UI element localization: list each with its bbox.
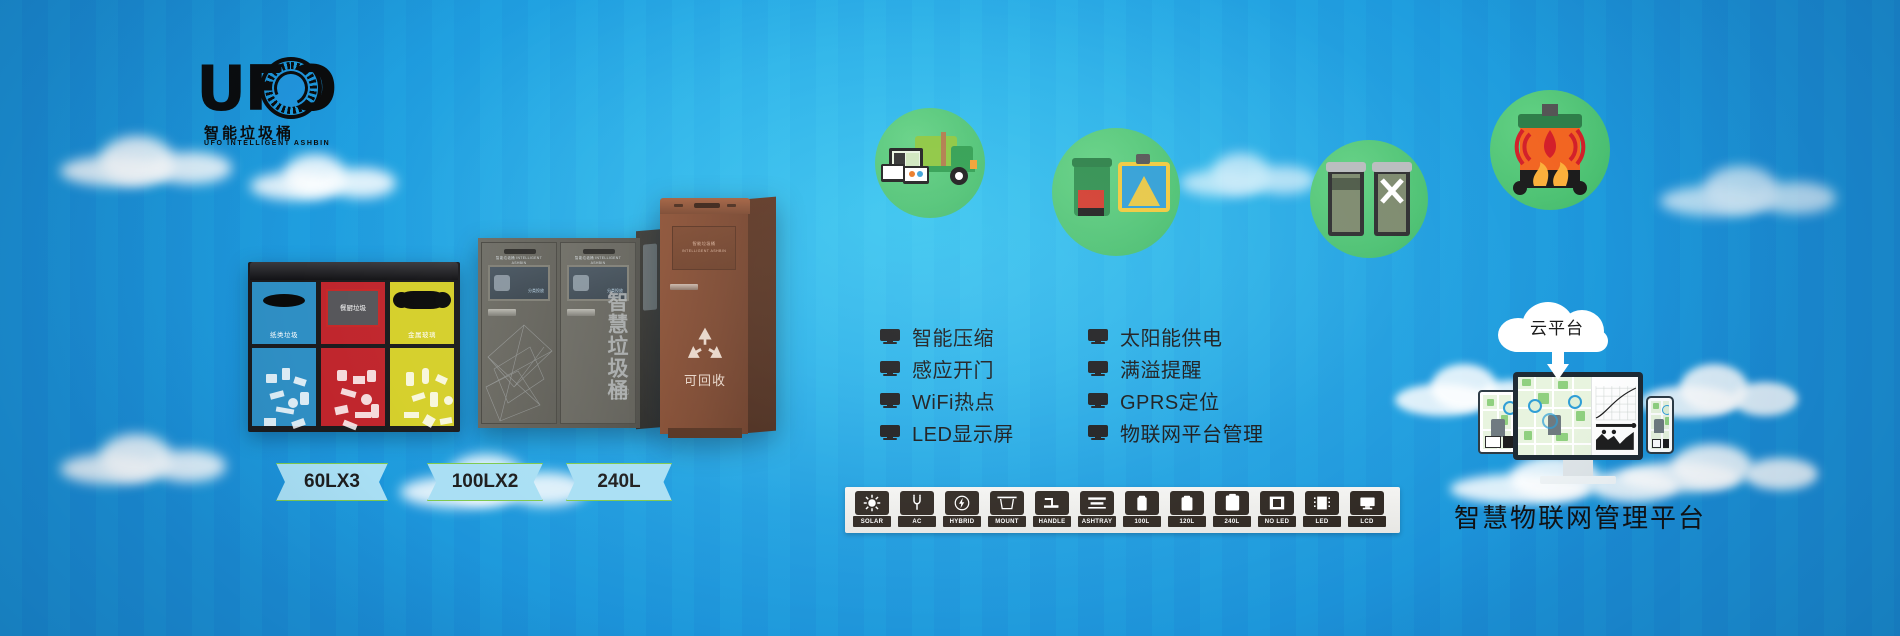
- burning-bin-alarm-icon: [1490, 90, 1610, 210]
- cloud-decoration: [250, 150, 400, 205]
- monitor-icon: [1088, 425, 1108, 440]
- polygon-pattern: [484, 317, 562, 425]
- spec-item-240l: 240L: [1211, 491, 1253, 529]
- spec-item-solar: SOLAR: [851, 491, 893, 529]
- capacity-ribbon-240l: 240L: [566, 463, 672, 501]
- product-brown-recycle-bin: 智能垃圾桶 INTELLIGENT ASHBIN 可回收: [660, 198, 778, 438]
- blank-panel-icon: [1260, 491, 1294, 515]
- cloud-decoration: [1180, 150, 1320, 200]
- spec-label: MOUNT: [988, 516, 1026, 527]
- bin-door-right: 智能垃圾桶 INTELLIGENT ASHBIN 分类投放 智慧垃圾桶 UFO: [560, 242, 636, 424]
- wall-mount-icon: [990, 491, 1024, 515]
- info-panel: 智能垃圾桶 INTELLIGENT ASHBIN: [672, 226, 736, 270]
- arrow-down-icon: [1547, 348, 1569, 382]
- cloud-platform-badge: 云平台: [1498, 300, 1616, 352]
- product-grey-smart-bin: 智能垃圾桶 INTELLIGENT ASHBIN 分类投放 智能垃圾桶 INTE…: [478, 238, 668, 434]
- feature-label: 物联网平台管理: [1120, 418, 1264, 447]
- spec-label: LED: [1303, 516, 1341, 527]
- bin-compartment-metal-glass: 金属玻璃: [390, 282, 454, 428]
- monitor-icon: [1088, 329, 1108, 344]
- waste-illustration: [262, 358, 306, 416]
- spec-label: LCD: [1348, 516, 1386, 527]
- spec-label: 100L: [1123, 516, 1161, 527]
- smartphone-device: [1646, 396, 1674, 454]
- feature-circle-waste-compaction: [1310, 140, 1428, 258]
- bin-120l-icon: [1170, 491, 1204, 515]
- ribbon-label: 60LX3: [304, 471, 360, 493]
- spec-label: ASHTRAY: [1078, 516, 1116, 527]
- capacity-ribbon-60lx3: 60LX3: [276, 463, 388, 501]
- feature-label: LED显示屏: [912, 418, 1014, 447]
- ashtray-icon: [1080, 491, 1114, 515]
- desktop-monitor: [1513, 372, 1643, 460]
- bin-100l-icon: [1125, 491, 1159, 515]
- product-banner: UFO 智能垃圾桶 UFO INTELLIGENT ASHBIN 纸类垃圾: [0, 0, 1900, 636]
- spec-item-handle: HANDLE: [1031, 491, 1073, 529]
- display-window: 分类投放: [488, 265, 550, 301]
- feature-label: 满溢提醒: [1120, 354, 1202, 383]
- bin-side-panel: [744, 197, 776, 434]
- spec-label: NO LED: [1258, 516, 1296, 527]
- feature-item: 物联网平台管理: [1088, 416, 1264, 448]
- lightning-bolt-icon: [945, 491, 979, 515]
- lcd-screen-icon: [1350, 491, 1384, 515]
- ribbon-label: 100LX2: [452, 471, 519, 493]
- spec-label: SOLAR: [853, 516, 891, 527]
- chart-panel: [1591, 377, 1638, 455]
- spec-item-ac: AC: [896, 491, 938, 529]
- panel-caption: 智能垃圾桶 INTELLIGENT ASHBIN: [492, 256, 546, 261]
- spec-label: AC: [898, 516, 936, 527]
- monitor-icon: [880, 361, 900, 376]
- ufo-mark-icon: UFO: [609, 383, 629, 405]
- handle-icon: [1035, 491, 1069, 515]
- ribbon-label: 240L: [597, 471, 640, 493]
- feature-column-right: 太阳能供电 满溢提醒 GPRS定位 物联网平台管理: [1088, 320, 1264, 448]
- spec-label: 240L: [1213, 516, 1251, 527]
- panel-caption: 智能垃圾桶 INTELLIGENT ASHBIN: [571, 256, 625, 261]
- bone-slot-icon: [397, 291, 447, 309]
- waste-illustration: [400, 358, 444, 416]
- spec-label: 120L: [1168, 516, 1206, 527]
- screen-caption: 分类投放: [528, 288, 544, 294]
- spec-option-strip: SOLAR AC HYBRID MOUNT: [845, 487, 1400, 533]
- feature-item: LED显示屏: [880, 416, 1014, 448]
- monitor-icon: [880, 393, 900, 408]
- feature-item: GPRS定位: [1088, 384, 1264, 416]
- feature-item: 感应开门: [880, 352, 1014, 384]
- bin-door-left: 智能垃圾桶 INTELLIGENT ASHBIN 分类投放: [481, 242, 557, 424]
- recycle-label: 可回收: [660, 370, 750, 389]
- brand-logo: UFO 智能垃圾桶 UFO INTELLIGENT ASHBIN: [196, 52, 328, 148]
- monitor-base: [1540, 476, 1616, 484]
- spec-item-lcd: LCD: [1346, 491, 1388, 529]
- bin-handle: [670, 284, 698, 290]
- sun-icon: [855, 491, 889, 515]
- feature-label: 感应开门: [912, 354, 994, 383]
- feature-circle-fire-alarm: [1490, 90, 1610, 210]
- cloud-decoration: [60, 430, 230, 488]
- panel-line-1: 智能垃圾桶: [673, 241, 735, 247]
- spec-item-led: LED: [1301, 491, 1343, 529]
- spec-item-100l: 100L: [1121, 491, 1163, 529]
- compartment-label: 纸类垃圾: [252, 329, 316, 339]
- spec-label: HYBRID: [943, 516, 981, 527]
- cloud-decoration: [1660, 160, 1840, 220]
- monitor-icon: [1088, 393, 1108, 408]
- bin-lid: [660, 198, 750, 214]
- bin-handle: [488, 309, 516, 316]
- ufo-ring-icon: [260, 57, 322, 119]
- phone-map-view: [1651, 401, 1669, 449]
- power-plug-icon: [900, 491, 934, 515]
- spec-item-no-led: NO LED: [1256, 491, 1298, 529]
- bin-with-sensor-icon: [1052, 128, 1180, 256]
- monitor-icon: [1088, 361, 1108, 376]
- waste-illustration: [331, 358, 375, 416]
- bin-handle: [567, 309, 595, 316]
- led-panel-icon: [1305, 491, 1339, 515]
- feature-circle-fleet-management: [875, 108, 985, 218]
- platform-title: 智慧物联网管理平台: [1440, 498, 1720, 535]
- compartment-label: 金属玻璃: [390, 329, 454, 339]
- feature-item: 太阳能供电: [1088, 320, 1264, 352]
- map-panel: [1518, 377, 1591, 455]
- spec-item-ashtray: ASHTRAY: [1076, 491, 1118, 529]
- feature-item: 满溢提醒: [1088, 352, 1264, 384]
- monitor-screen: [1518, 377, 1638, 455]
- feature-column-left: 智能压缩 感应开门 WiFi热点 LED显示屏: [880, 320, 1014, 448]
- vent-icon: [504, 249, 536, 254]
- feature-item: WiFi热点: [880, 384, 1014, 416]
- product-three-compartment-bin: 纸类垃圾 餐厨垃圾: [248, 262, 460, 432]
- spec-item-hybrid: HYBRID: [941, 491, 983, 529]
- bin-240l-icon: [1215, 491, 1249, 515]
- compartment-label: 餐厨垃圾: [321, 302, 385, 312]
- svg-text:UFO: UFO: [611, 387, 629, 397]
- feature-label: WiFi热点: [912, 386, 995, 415]
- spec-item-mount: MOUNT: [986, 491, 1028, 529]
- garbage-truck-and-devices-icon: [875, 108, 985, 218]
- monitor-icon: [880, 425, 900, 440]
- spec-item-120l: 120L: [1166, 491, 1208, 529]
- feature-label: GPRS定位: [1120, 386, 1220, 415]
- monitor-icon: [880, 329, 900, 344]
- bin-compartment-kitchen: 餐厨垃圾: [321, 282, 385, 428]
- feature-circle-sensor-detection: [1052, 128, 1180, 256]
- iot-dashboard-devices: [1478, 372, 1678, 492]
- feature-item: 智能压缩: [880, 320, 1014, 352]
- vent-icon: [583, 249, 615, 254]
- feature-label: 智能压缩: [912, 322, 994, 351]
- logo-name-en: UFO INTELLIGENT ASHBIN: [204, 140, 330, 147]
- recycle-icon: [684, 326, 726, 366]
- bin-compartment-paper: 纸类垃圾: [252, 282, 316, 428]
- spec-label: HANDLE: [1033, 516, 1071, 527]
- feature-label: 太阳能供电: [1120, 322, 1223, 351]
- two-compaction-bins-icon: [1310, 140, 1428, 258]
- panel-line-2: INTELLIGENT ASHBIN: [673, 249, 735, 253]
- cloud-platform-label: 云平台: [1498, 314, 1616, 339]
- oval-slot-icon: [263, 294, 305, 307]
- capacity-ribbon-100lx2: 100LX2: [427, 463, 543, 501]
